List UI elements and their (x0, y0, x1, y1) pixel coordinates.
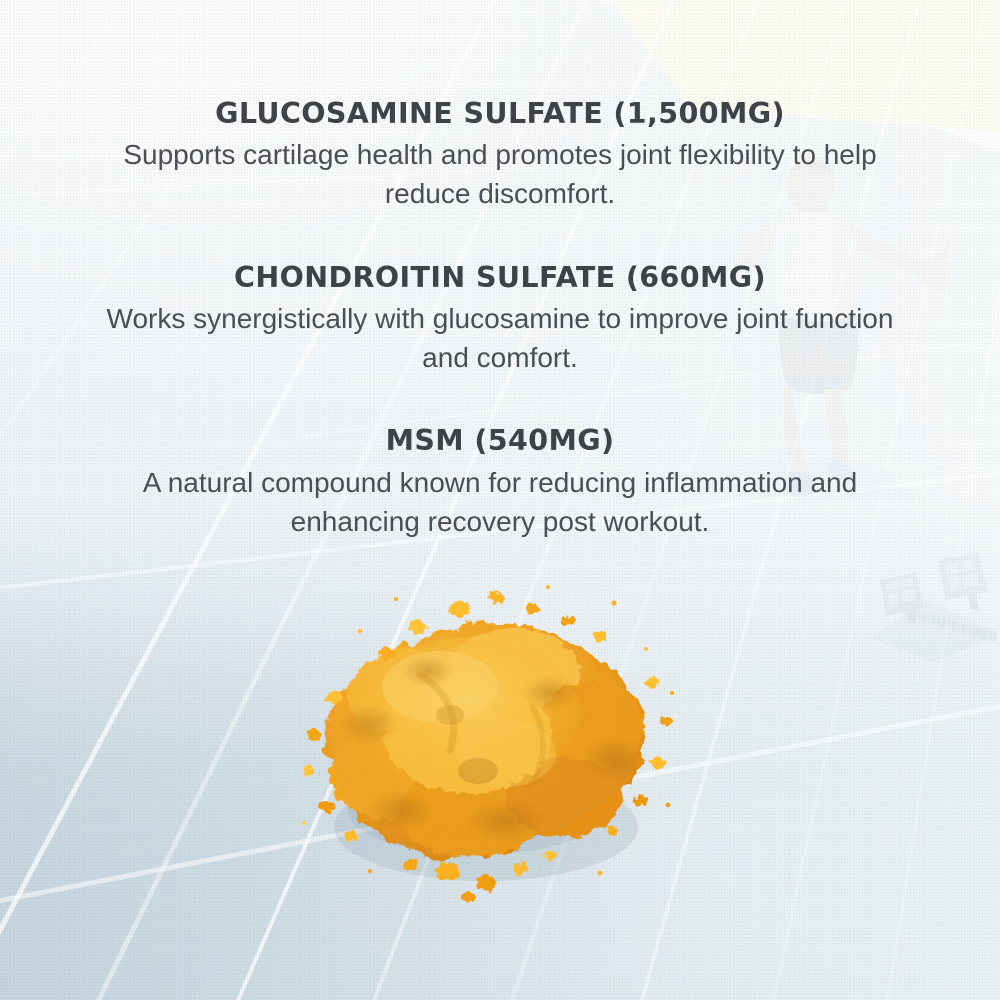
ingredient-heading: CHONDROITIN SULFATE (660MG) (60, 260, 940, 296)
ingredient-heading: GLUCOSAMINE SULFATE (1,500MG) (60, 96, 940, 132)
ingredient-description: A natural compound known for reducing in… (85, 464, 915, 541)
infographic-canvas: GLUCOSAMINE SULFATE (1,500MG) Supports c… (0, 0, 1000, 1000)
ingredient-copy-stack: GLUCOSAMINE SULFATE (1,500MG) Supports c… (0, 0, 1000, 541)
ingredient-block-msm: MSM (540MG) A natural compound known for… (60, 423, 940, 541)
ingredient-heading: MSM (540MG) (60, 423, 940, 459)
ingredient-block-glucosamine: GLUCOSAMINE SULFATE (1,500MG) Supports c… (60, 96, 940, 214)
ingredient-block-chondroitin: CHONDROITIN SULFATE (660MG) Works synerg… (60, 260, 940, 378)
ingredient-description: Supports cartilage health and promotes j… (85, 136, 915, 213)
ingredient-description: Works synergistically with glucosamine t… (85, 300, 915, 377)
supplement-powder-heap (300, 575, 680, 905)
